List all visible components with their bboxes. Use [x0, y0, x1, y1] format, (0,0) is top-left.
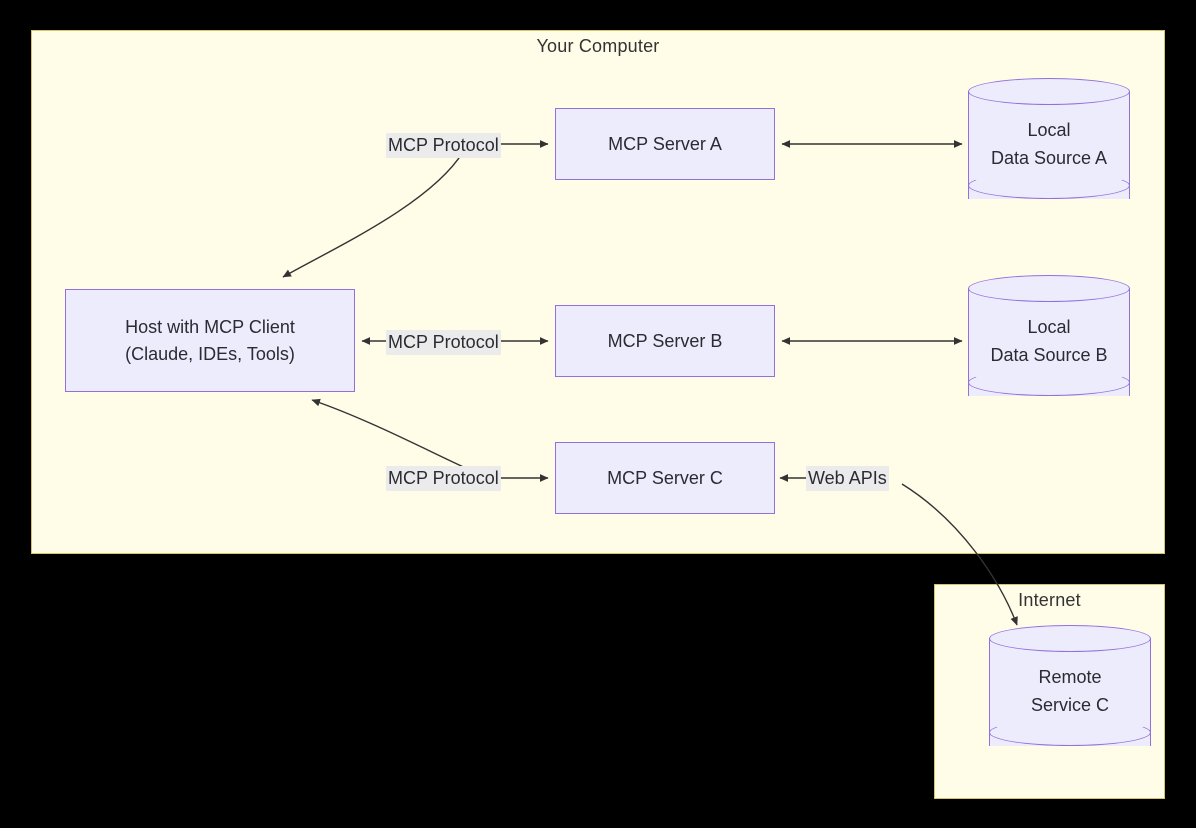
node-mcp-server-a[interactable]: MCP Server A	[555, 108, 775, 180]
edge-label-web-apis: Web APIs	[806, 466, 889, 491]
data-source-b-line2: Data Source B	[990, 342, 1107, 370]
server-c-label: MCP Server C	[607, 465, 723, 492]
node-mcp-server-b[interactable]: MCP Server B	[555, 305, 775, 377]
node-local-data-source-b[interactable]: Local Data Source B	[968, 275, 1130, 409]
internet-title: Internet	[934, 590, 1165, 611]
remote-service-c-line2: Service C	[1031, 692, 1109, 720]
node-local-data-source-a[interactable]: Local Data Source A	[968, 78, 1130, 212]
edge-label-mcp-protocol-a: MCP Protocol	[386, 133, 501, 158]
data-source-b-line1: Local	[990, 314, 1107, 342]
edge-label-mcp-protocol-b: MCP Protocol	[386, 330, 501, 355]
server-a-label: MCP Server A	[608, 131, 722, 158]
node-host-with-mcp-client[interactable]: Host with MCP Client (Claude, IDEs, Tool…	[65, 289, 355, 392]
node-mcp-server-c[interactable]: MCP Server C	[555, 442, 775, 514]
remote-service-c-line1: Remote	[1031, 664, 1109, 692]
remote-service-c-label: Remote Service C	[989, 625, 1151, 759]
node-remote-service-c[interactable]: Remote Service C	[989, 625, 1151, 759]
data-source-b-label: Local Data Source B	[968, 275, 1130, 409]
host-label-line1: Host with MCP Client	[125, 314, 295, 341]
diagram-canvas: Your Computer Internet	[0, 0, 1196, 828]
data-source-a-label: Local Data Source A	[968, 78, 1130, 212]
edge-label-mcp-protocol-c: MCP Protocol	[386, 466, 501, 491]
host-label-line2: (Claude, IDEs, Tools)	[125, 341, 295, 368]
your-computer-title: Your Computer	[0, 36, 1196, 57]
server-b-label: MCP Server B	[608, 328, 723, 355]
data-source-a-line2: Data Source A	[991, 145, 1107, 173]
data-source-a-line1: Local	[991, 117, 1107, 145]
